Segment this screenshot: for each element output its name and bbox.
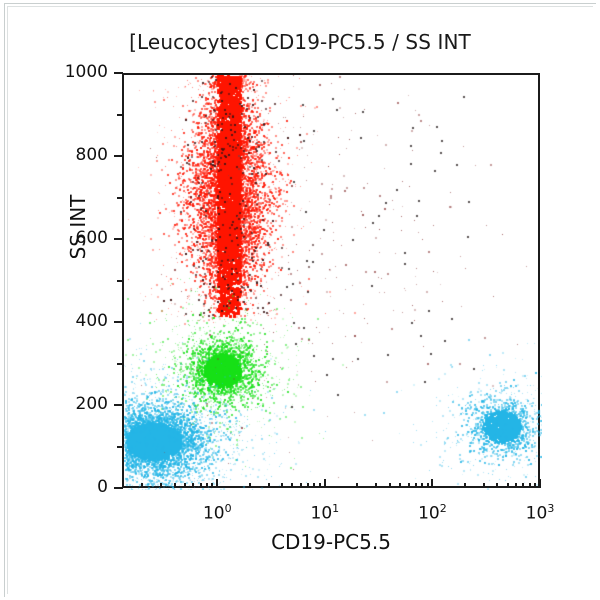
x-tick-minor — [249, 483, 251, 488]
y-tick-label: 600 — [8, 228, 108, 248]
x-tick-major — [539, 479, 541, 488]
x-tick-minor — [515, 483, 517, 488]
y-axis-label: SS INT — [66, 162, 90, 292]
x-tick-minor — [281, 483, 283, 488]
x-axis-label: CD19-PC5.5 — [122, 530, 540, 554]
scatter-canvas — [124, 75, 542, 490]
x-tick-label: 103 — [505, 502, 575, 524]
plot-area — [122, 73, 540, 488]
x-tick-minor — [483, 483, 485, 488]
y-tick-minor — [117, 363, 123, 365]
x-tick-label: 101 — [290, 502, 360, 524]
x-tick-major — [324, 479, 326, 488]
y-tick-major — [114, 238, 123, 240]
x-tick-minor — [529, 483, 531, 488]
x-tick-minor — [356, 483, 358, 488]
x-tick-minor — [160, 483, 162, 488]
x-tick-minor — [507, 483, 509, 488]
y-tick-major — [114, 155, 123, 157]
y-tick-major — [114, 321, 123, 323]
x-tick-minor — [319, 483, 321, 488]
y-tick-minor — [117, 280, 123, 282]
x-tick-minor — [464, 483, 466, 488]
x-tick-minor — [184, 483, 186, 488]
x-tick-minor — [291, 483, 293, 488]
x-tick-minor — [200, 483, 202, 488]
y-tick-major — [114, 487, 123, 489]
x-tick-label: 102 — [397, 502, 467, 524]
x-tick-minor — [399, 483, 401, 488]
y-tick-minor — [117, 197, 123, 199]
x-tick-minor — [174, 483, 176, 488]
y-tick-label: 0 — [8, 477, 108, 497]
x-tick-minor — [268, 483, 270, 488]
y-tick-label: 400 — [8, 311, 108, 331]
flow-cytometry-figure: [Leucocytes] CD19-PC5.5 / SS INT 0200400… — [0, 0, 600, 600]
x-tick-minor — [141, 483, 143, 488]
x-tick-minor — [313, 483, 315, 488]
y-tick-label: 1000 — [8, 62, 108, 82]
x-tick-minor — [307, 483, 309, 488]
chart-title: [Leucocytes] CD19-PC5.5 / SS INT — [0, 30, 600, 54]
x-tick-minor — [408, 483, 410, 488]
y-tick-major — [114, 72, 123, 74]
x-tick-major — [216, 479, 218, 488]
x-tick-minor — [534, 483, 536, 488]
y-tick-minor — [117, 446, 123, 448]
x-tick-minor — [496, 483, 498, 488]
y-tick-label: 800 — [8, 145, 108, 165]
x-tick-minor — [389, 483, 391, 488]
x-tick-minor — [192, 483, 194, 488]
x-tick-minor — [206, 483, 208, 488]
x-tick-minor — [300, 483, 302, 488]
x-tick-minor — [211, 483, 213, 488]
y-tick-minor — [117, 114, 123, 116]
x-tick-major — [431, 479, 433, 488]
x-tick-minor — [427, 483, 429, 488]
x-tick-minor — [421, 483, 423, 488]
x-tick-minor — [415, 483, 417, 488]
x-tick-label: 100 — [182, 502, 252, 524]
x-tick-minor — [375, 483, 377, 488]
y-tick-label: 200 — [8, 394, 108, 414]
x-tick-minor — [522, 483, 524, 488]
y-tick-major — [114, 404, 123, 406]
